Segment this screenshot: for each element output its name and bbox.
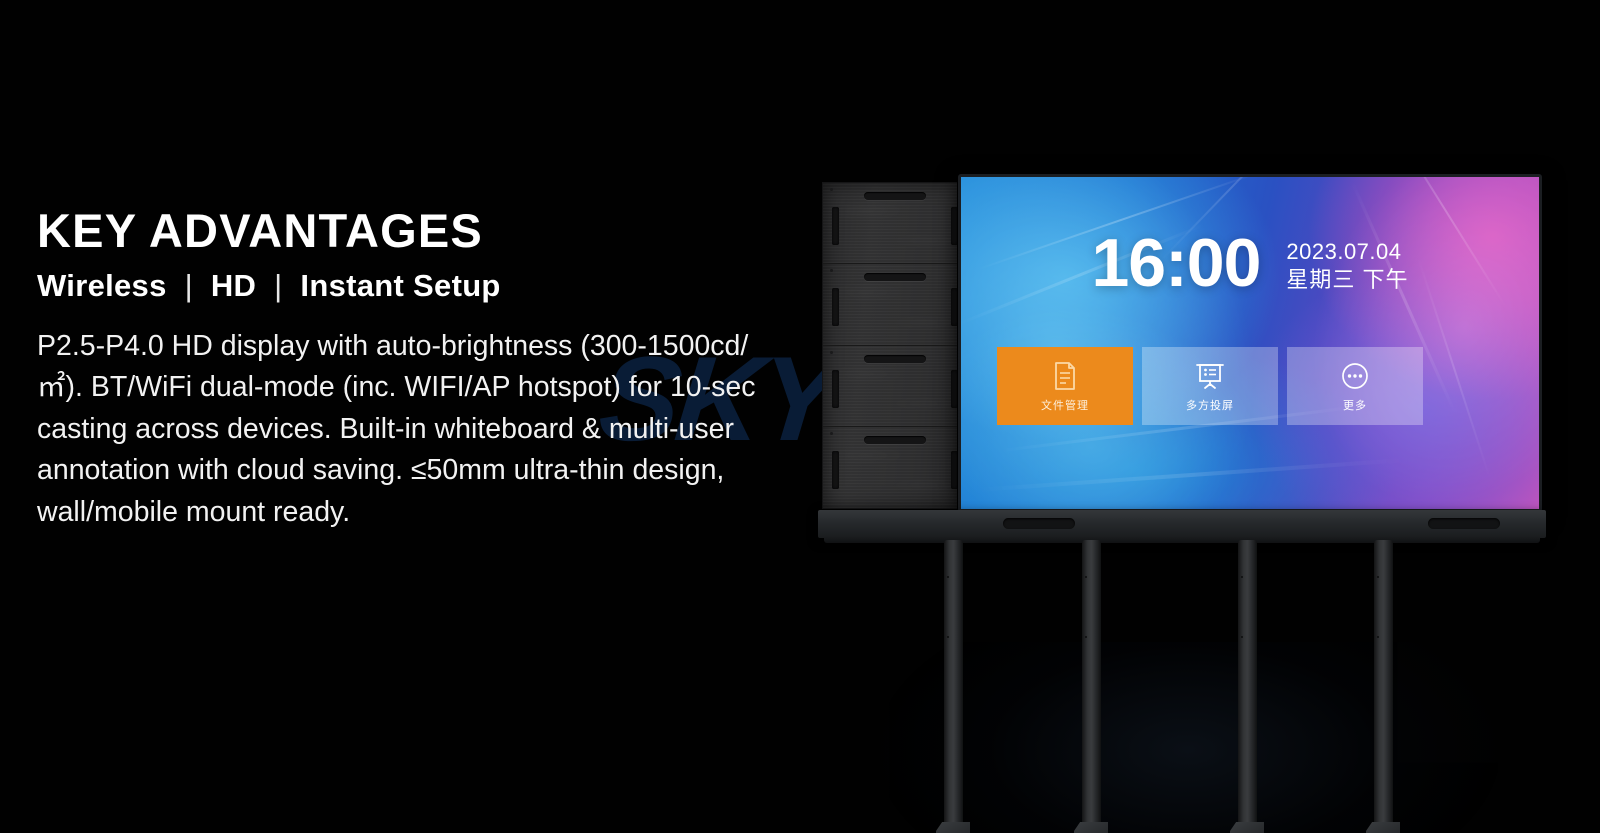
cabinet-module — [823, 183, 967, 264]
device-glow — [878, 642, 1498, 833]
bottom-bar-vent — [1428, 518, 1500, 529]
cabinet-handle — [864, 355, 926, 363]
app-tile-more[interactable]: 更多 — [1287, 347, 1423, 425]
page-title: KEY ADVANTAGES — [37, 205, 757, 258]
caster-arm — [1074, 822, 1108, 833]
bottom-bar-vent — [1003, 518, 1075, 529]
clock-widget: 16:00 2023.07.04 星期三 下午 — [961, 229, 1539, 297]
stand-leg — [1238, 540, 1257, 832]
stand-leg — [1082, 540, 1101, 832]
clock-weekday: 星期三 下午 — [1286, 269, 1408, 291]
subtitle-part-instant-setup: Instant Setup — [300, 268, 500, 303]
date-block: 2023.07.04 星期三 下午 — [1286, 235, 1408, 291]
caster-arm — [936, 822, 970, 833]
subtitle-part-wireless: Wireless — [37, 268, 167, 303]
app-tile-label: 文件管理 — [1041, 397, 1089, 413]
app-tile-label: 多方投屏 — [1186, 397, 1234, 413]
subtitle-separator-2: | — [265, 268, 291, 304]
app-tile-label: 更多 — [1343, 397, 1367, 413]
stand-caster — [1346, 822, 1420, 833]
cabinet-screw — [830, 432, 833, 435]
subtitle-part-hd: HD — [211, 268, 256, 303]
body-paragraph: P2.5-P4.0 HD display with auto-brightnes… — [37, 326, 757, 534]
app-tile-row: 文件管理 多方投屏 — [997, 347, 1423, 425]
document-icon — [1048, 360, 1082, 392]
stand-leg — [944, 540, 963, 832]
app-tile-file-manager[interactable]: 文件管理 — [997, 347, 1133, 425]
cabinet-module — [823, 264, 967, 345]
cabinet-connector-left — [832, 288, 839, 326]
cabinet-handle — [864, 273, 926, 281]
stand-caster — [916, 822, 990, 833]
subtitle-separator-1: | — [176, 268, 202, 304]
stand-caster — [1210, 822, 1284, 833]
wallpaper-streak — [981, 458, 1400, 491]
cabinet-connector-left — [832, 451, 839, 489]
caster-arm — [1366, 822, 1400, 833]
slide-canvas: SKYSTAR KEY ADVANTAGES Wireless | HD | I… — [0, 0, 1600, 833]
stand-leg — [1374, 540, 1393, 832]
cabinet-module — [823, 427, 967, 508]
cabinet-screw — [830, 351, 833, 354]
cabinet-connector-left — [832, 207, 839, 245]
more-dots-icon — [1338, 360, 1372, 392]
caster-arm — [1230, 822, 1264, 833]
subtitle: Wireless | HD | Instant Setup — [37, 268, 757, 304]
clock-date: 2023.07.04 — [1286, 241, 1408, 263]
cabinet-connector-left — [832, 370, 839, 408]
cabinet-screw — [830, 188, 833, 191]
device-bottom-bar — [818, 510, 1546, 538]
stand-caster — [1054, 822, 1128, 833]
app-tile-multi-screen-cast[interactable]: 多方投屏 — [1142, 347, 1278, 425]
cabinet-connector-right — [951, 370, 958, 408]
led-display-device: 16:00 2023.07.04 星期三 下午 文件管理 — [818, 172, 1548, 742]
cabinet-connector-right — [951, 207, 958, 245]
led-cabinet-rear — [822, 182, 968, 509]
cabinet-module — [823, 346, 967, 427]
whiteboard-icon — [1193, 360, 1227, 392]
cabinet-handle — [864, 436, 926, 444]
clock-time: 16:00 — [1091, 229, 1260, 297]
device-bottom-lip — [824, 536, 1540, 543]
cabinet-connector-right — [951, 451, 958, 489]
display-panel: 16:00 2023.07.04 星期三 下午 文件管理 — [958, 174, 1542, 512]
copy-block: KEY ADVANTAGES Wireless | HD | Instant S… — [37, 205, 757, 534]
cabinet-connector-right — [951, 288, 958, 326]
cabinet-handle — [864, 192, 926, 200]
